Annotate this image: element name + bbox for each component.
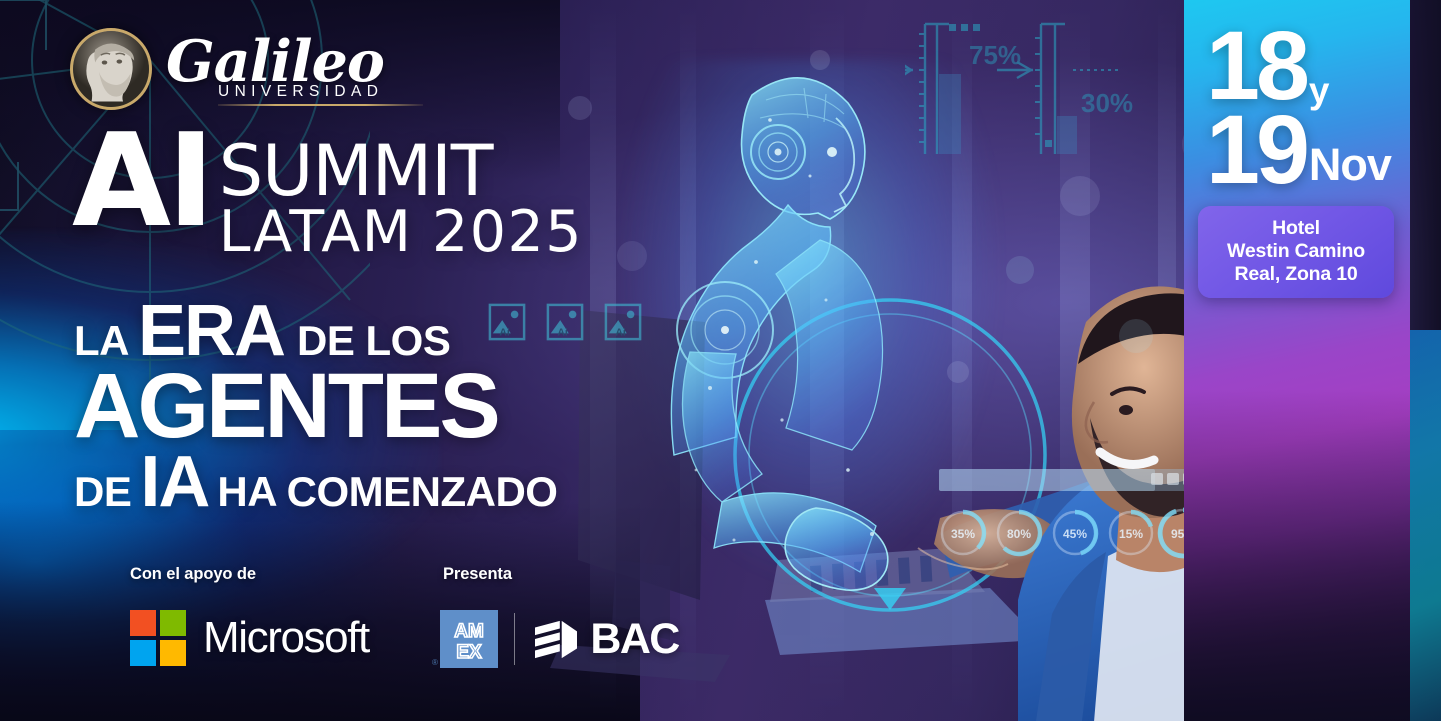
title-latam-year: LATAM 2025 [219,203,583,261]
sponsor-divider [514,613,515,665]
hud-ring-label: 35% [951,527,975,541]
support-kicker: Con el apoyo de [130,565,369,584]
svg-text:Ai: Ai [557,327,568,338]
ai-summit-banner: Ai Ai Ai [0,0,1441,721]
bac-mark-icon [531,618,581,660]
galileo-bust-medallion-icon [70,28,152,110]
amex-text-bottom: EX [456,642,482,663]
logo-rule [218,104,423,106]
hud-ring-label: 80% [1007,527,1031,541]
hud-ring: 45% [1054,512,1096,554]
microsoft-logo[interactable]: Microsoft [130,610,369,666]
ai-image-icon: Ai [604,303,642,341]
event-dates: 18 y 19 Nov [1184,0,1410,194]
amex-registered-mark: ® [432,658,438,667]
date-conjunction: y [1309,70,1330,112]
hud-metrics-panel: 35% 80% 45% 15% 95% [935,465,1200,570]
bac-wordmark: BAC [590,618,678,661]
galileo-universidad-logo[interactable]: Galileo UNIVERSIDAD [70,28,423,110]
presenting-sponsor-group: Presenta ® AM EX [440,565,679,668]
holographic-ai-figure [671,78,887,590]
hud-ring: 15% [1110,512,1152,554]
amex-logo[interactable]: ® AM EX [440,610,498,668]
event-tagline: LA ERA DE LOS AGENTES DE IA HA COMENZADO [74,296,557,518]
microsoft-wordmark: Microsoft [203,616,369,660]
hud-ring-group: 35% 80% 45% 15% 95% [942,510,1200,556]
tagline-word-agentes: AGENTES [74,363,498,449]
title-summit: SUMMIT [219,141,583,201]
hud-ring-label: 45% [1063,527,1087,541]
venue-badge: Hotel Westin Camino Real, Zona 10 [1198,206,1394,298]
university-subtitle: UNIVERSIDAD [218,83,423,101]
hud-gauge-group: 75% 30% [905,8,1185,158]
support-sponsor-group: Con el apoyo de Microsoft [130,565,369,666]
tagline-word-ia: IA [140,447,208,518]
svg-text:Ai: Ai [615,327,626,338]
presents-kicker: Presenta [443,565,679,584]
date-day-2: 19 [1206,108,1306,191]
hud-gauge-1-label: 75% [969,40,1021,70]
date-month: Nov [1309,139,1391,191]
microsoft-squares-icon [130,610,186,666]
title-ai: AI [72,130,211,235]
venue-line-1: Hotel [1206,217,1386,240]
amex-text-top: AM [454,621,484,642]
bac-logo[interactable]: BAC [531,618,678,661]
venue-line-3: Real, Zona 10 [1206,263,1386,286]
tagline-word-ha-comenzado: HA COMENZADO [217,471,557,512]
venue-line-2: Westin Camino [1206,240,1386,263]
tagline-word-de: DE [74,471,131,512]
sponsor-section: Con el apoyo de Microsoft Presenta ® [0,560,640,700]
hud-ring-label: 15% [1119,527,1143,541]
event-title: AI SUMMIT LATAM 2025 [72,130,583,261]
date-panel: 18 y 19 Nov Hotel Westin Camino Real, Zo… [1184,0,1410,721]
hud-ring: 80% [998,512,1040,554]
university-script-wordmark: Galileo [166,36,423,88]
hud-ring: 35% [942,512,984,554]
hud-gauge-2-label: 30% [1081,88,1133,118]
